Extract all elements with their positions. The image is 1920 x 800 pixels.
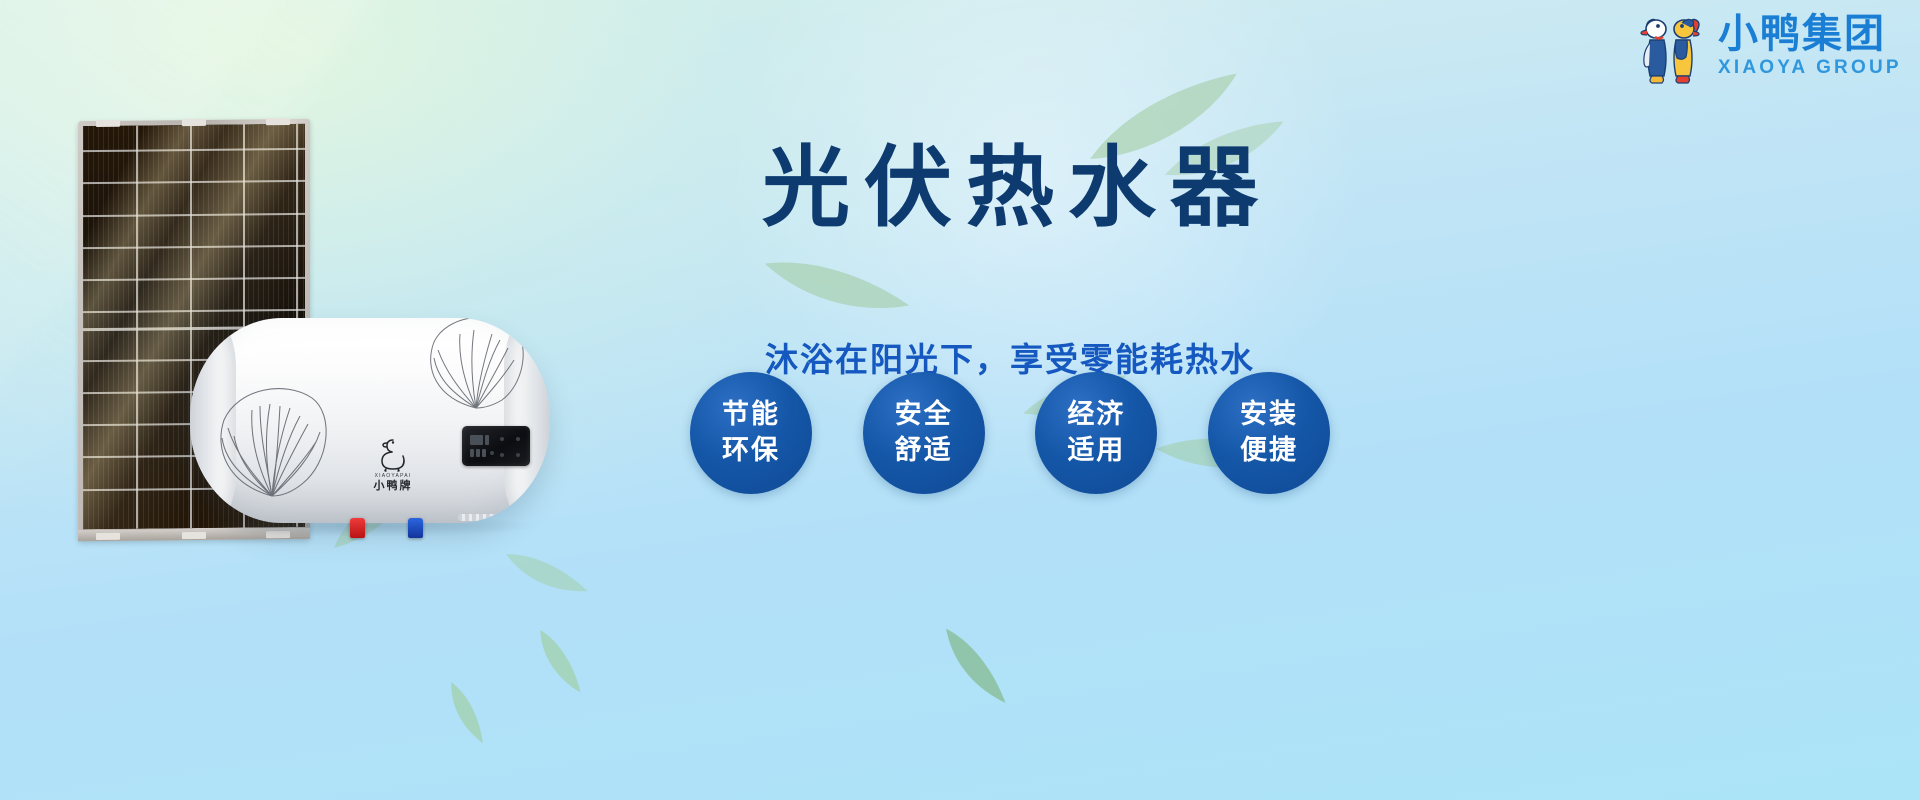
floral-pattern-icon xyxy=(208,380,336,509)
badge-economical[interactable]: 经济 适用 xyxy=(1035,372,1157,494)
badge-energy-saving[interactable]: 节能 环保 xyxy=(690,372,812,494)
product-brandmark: XIAOYAPAI 小鸭牌 xyxy=(358,436,428,492)
badge-line-1: 安全 xyxy=(895,397,953,433)
cold-water-port xyxy=(408,518,423,538)
badge-line-1: 经济 xyxy=(1067,397,1125,433)
light-ray-icon xyxy=(0,0,37,574)
logo-english-name: XIAOYA GROUP xyxy=(1718,57,1902,80)
badge-line-2: 环保 xyxy=(722,433,780,469)
page-title: 光伏热水器 xyxy=(720,140,1300,235)
heater-vent xyxy=(458,514,544,521)
floral-pattern-icon xyxy=(420,318,532,417)
leaf-icon xyxy=(533,622,583,703)
badge-safe-comfort[interactable]: 安全 舒适 xyxy=(863,372,985,494)
electric-water-heater: XIAOYAPAI 小鸭牌 xyxy=(190,318,550,523)
badge-easy-install[interactable]: 安装 便捷 xyxy=(1208,372,1330,494)
duck-glyph-icon xyxy=(376,436,410,472)
leaf-icon xyxy=(500,533,591,617)
hot-water-port xyxy=(350,518,365,538)
heater-tank: XIAOYAPAI 小鸭牌 xyxy=(190,318,550,523)
badge-line-1: 节能 xyxy=(722,397,780,433)
two-duck-mascots-icon xyxy=(1634,7,1712,87)
brand-logo[interactable]: 小鸭集团 XIAOYA GROUP xyxy=(1634,4,1904,90)
badge-line-1: 安装 xyxy=(1240,397,1298,433)
leaf-icon xyxy=(757,228,913,348)
badge-line-2: 适用 xyxy=(1067,433,1125,469)
badge-line-2: 便捷 xyxy=(1240,433,1298,469)
badge-line-2: 舒适 xyxy=(895,433,953,469)
leaf-icon xyxy=(445,676,485,750)
lcd-control-panel[interactable] xyxy=(462,426,530,466)
promo-banner: 小鸭集团 XIAOYA GROUP xyxy=(0,0,1920,800)
product-brand-cn: 小鸭牌 xyxy=(358,479,428,492)
logo-chinese-name: 小鸭集团 xyxy=(1718,14,1886,54)
leaf-icon xyxy=(938,616,1008,718)
feature-badge-group: 节能 环保 安全 舒适 经济 适用 安装 便捷 xyxy=(690,368,1330,498)
